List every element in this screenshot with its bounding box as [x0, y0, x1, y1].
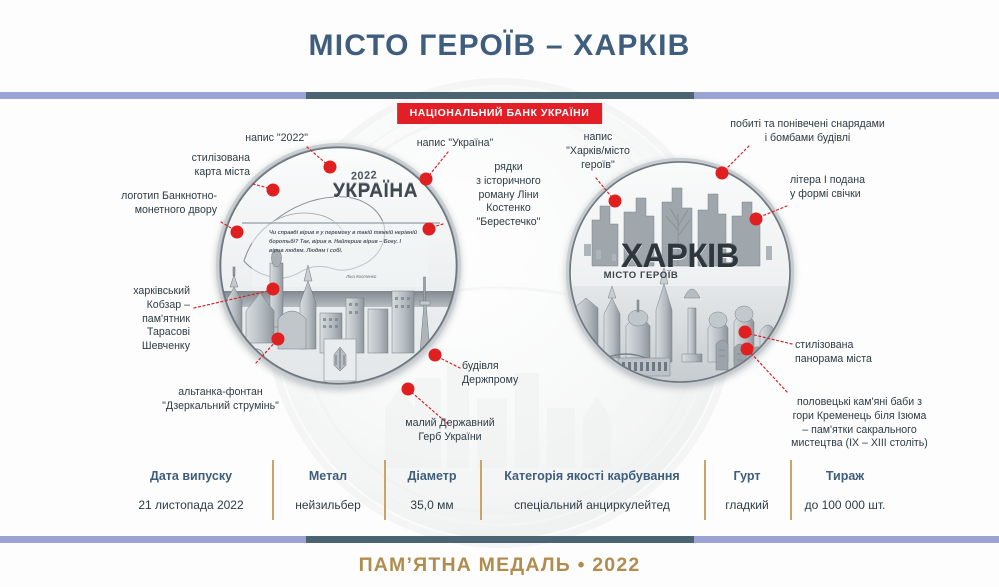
spec-value-diameter: 35,0 мм	[410, 498, 453, 512]
spec-column-date: Дата випуску 21 листопада 2022	[110, 456, 272, 524]
callout-dot-altanka[interactable]	[272, 333, 285, 346]
label-damaged-buildings: побиті та понівечені снарядами і бомбами…	[700, 118, 915, 146]
page-title: МІСТО ГЕРОЇВ – ХАРКІВ	[309, 29, 691, 63]
callout-dot-berestechko[interactable]	[423, 223, 436, 236]
spec-column-edge: Гурт гладкий	[704, 456, 790, 524]
label-stone-babas: половецькі кам'яні баби з гори Кременець…	[732, 396, 987, 451]
spec-column-diameter: Діаметр 35,0 мм	[384, 456, 480, 524]
spec-column-quality: Категорія якості карбування спеціальний …	[480, 456, 704, 524]
callout-dot-stone-babas[interactable]	[741, 343, 754, 356]
specs-table: Дата випуску 21 листопада 2022 Метал ней…	[110, 456, 900, 524]
callout-dot-damaged-buildings[interactable]	[716, 167, 729, 180]
divider-top	[0, 92, 999, 99]
infographic-page: МІСТО ГЕРОЇВ – ХАРКІВ НАЦІОНАЛЬНИЙ БАНК …	[0, 0, 999, 587]
divider-bottom-center-segment	[306, 536, 694, 543]
nbu-banner: НАЦІОНАЛЬНИЙ БАНК УКРАЇНИ	[397, 103, 603, 124]
obverse-country-inscription: УКРАЇНА	[333, 181, 418, 203]
label-altanka: альтанка-фонтан "Дзеркальний струмінь"	[128, 386, 313, 414]
spec-header-diameter: Діаметр	[407, 469, 456, 483]
spec-header-mintage: Тираж	[826, 469, 864, 483]
obverse-quote-author: Ліна Костенко	[346, 274, 376, 279]
callout-dot-city-panorama[interactable]	[739, 326, 752, 339]
callout-dot-kobzar[interactable]	[267, 283, 280, 296]
spec-value-metal: нейзильбер	[295, 498, 361, 512]
spec-column-mintage: Тираж до 100 000 шт.	[790, 456, 900, 524]
callout-dot-napys-ukraina[interactable]	[420, 173, 433, 186]
label-napys-ukraina: напис "Україна"	[400, 137, 510, 151]
label-letter-i-candle: літера І подана у формі свічки	[790, 174, 925, 202]
divider-bottom	[0, 536, 999, 543]
label-napys-kharkiv: напис "Харків/місто героїв"	[543, 131, 653, 172]
spec-column-metal: Метал нейзильбер	[272, 456, 384, 524]
callout-dot-letter-i-candle[interactable]	[750, 213, 763, 226]
callout-dot-mint-logo[interactable]	[231, 226, 244, 239]
spec-value-date: 21 листопада 2022	[138, 498, 243, 512]
label-coat-of-arms: малий Державний Герб України	[370, 417, 530, 445]
coin-reverse: ХАРКІВ МІСТО ГЕРОЇВ	[566, 158, 794, 386]
obverse-quote-text: Чи справді вірив я у перемогу в такій тя…	[269, 229, 417, 255]
label-kobzar: харківський Кобзар – пам'ятник Тарасові …	[95, 285, 190, 354]
callout-dot-napys-2022[interactable]	[324, 161, 337, 174]
label-derzhprom: будівля Держпрому	[462, 360, 557, 388]
divider-top-center-segment	[306, 92, 694, 99]
spec-header-metal: Метал	[309, 469, 347, 483]
spec-value-edge: гладкий	[725, 498, 768, 512]
callout-dot-derzhprom[interactable]	[429, 349, 442, 362]
callout-dot-stylized-map[interactable]	[267, 184, 280, 197]
header: МІСТО ГЕРОЇВ – ХАРКІВ	[0, 0, 999, 92]
spec-header-date: Дата випуску	[150, 469, 232, 483]
label-stylized-map: стилізована карта міста	[135, 152, 250, 180]
label-city-panorama: стилізована панорама міста	[795, 339, 930, 367]
spec-header-edge: Гурт	[734, 469, 761, 483]
label-napys-2022: напис "2022"	[180, 132, 308, 146]
reverse-subtitle-inscription: МІСТО ГЕРОЇВ	[576, 270, 706, 281]
footer-caption: ПАМ’ЯТНА МЕДАЛЬ • 2022	[359, 554, 641, 577]
callout-dot-coat-of-arms[interactable]	[402, 383, 415, 396]
spec-header-quality: Категорія якості карбування	[504, 469, 679, 483]
spec-value-mintage: до 100 000 шт.	[805, 498, 886, 512]
footer: ПАМ’ЯТНА МЕДАЛЬ • 2022	[0, 543, 999, 587]
spec-value-quality: спеціальний анциркулейтед	[514, 498, 670, 512]
label-mint-logo: логотип Банкнотно- монетного двору	[95, 190, 217, 218]
callout-dot-napys-kharkiv[interactable]	[609, 195, 622, 208]
